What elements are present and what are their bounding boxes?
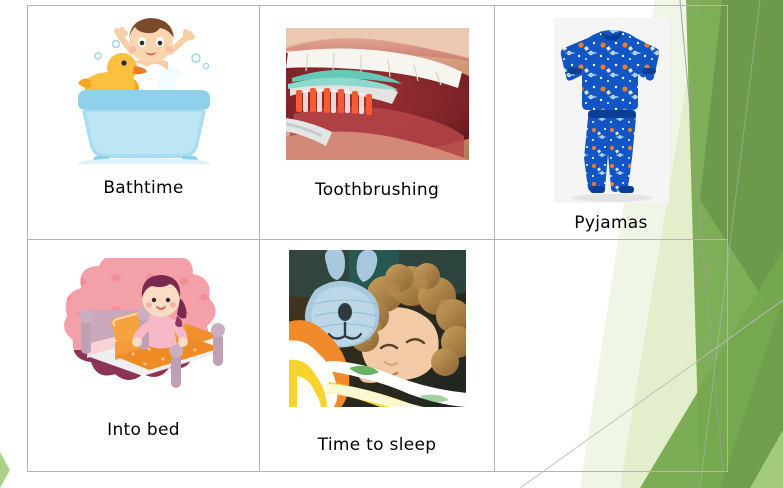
cell-label-into-bed: Into bed	[107, 420, 180, 440]
table-row: Bathtime	[28, 6, 728, 240]
sleeping-child-with-teddy-photo-wrap	[289, 250, 466, 407]
deco-shape-right-lower-dark	[720, 300, 783, 488]
table-cell-pyjamas[interactable]: Pyjamas	[495, 6, 728, 240]
deco-shape-corner-yellowgreen	[750, 430, 783, 488]
cell-label-bathtime: Bathtime	[103, 178, 183, 198]
cell-label-pyjamas: Pyjamas	[574, 213, 647, 233]
toothbrushing-mouth-photo	[286, 28, 469, 160]
girl-getting-into-bed-illustration-wrap	[53, 258, 235, 402]
bathtub-with-child-and-rubber-duck-illustration-wrap	[60, 16, 228, 164]
girl-getting-into-bed-illustration	[53, 258, 235, 402]
bathtub	[78, 90, 210, 164]
blue-space-print-pyjamas-photo-wrap	[554, 18, 669, 203]
cell-label-toothbrushing: Toothbrushing	[315, 180, 439, 200]
table-cell-bathtime[interactable]: Bathtime	[28, 6, 260, 240]
visual-schedule-table: Bathtime	[27, 5, 728, 472]
blue-space-print-pyjamas-photo	[554, 18, 669, 203]
bathtub-with-child-and-rubber-duck-illustration	[60, 16, 228, 164]
deco-shape-bottom-left	[0, 452, 10, 488]
table-cell-time-to-sleep[interactable]: Time to sleep	[260, 240, 495, 472]
table-row: Into bed	[28, 240, 728, 472]
table-cell-empty[interactable]	[495, 240, 728, 472]
slide-canvas: Bathtime	[0, 0, 783, 488]
cell-label-time-to-sleep: Time to sleep	[318, 435, 437, 455]
table-cell-toothbrushing[interactable]: Toothbrushing	[260, 6, 495, 240]
toothbrushing-mouth-photo-wrap	[286, 28, 469, 160]
table-cell-into-bed[interactable]: Into bed	[28, 240, 260, 472]
sleeping-child-with-teddy-photo	[289, 250, 466, 407]
